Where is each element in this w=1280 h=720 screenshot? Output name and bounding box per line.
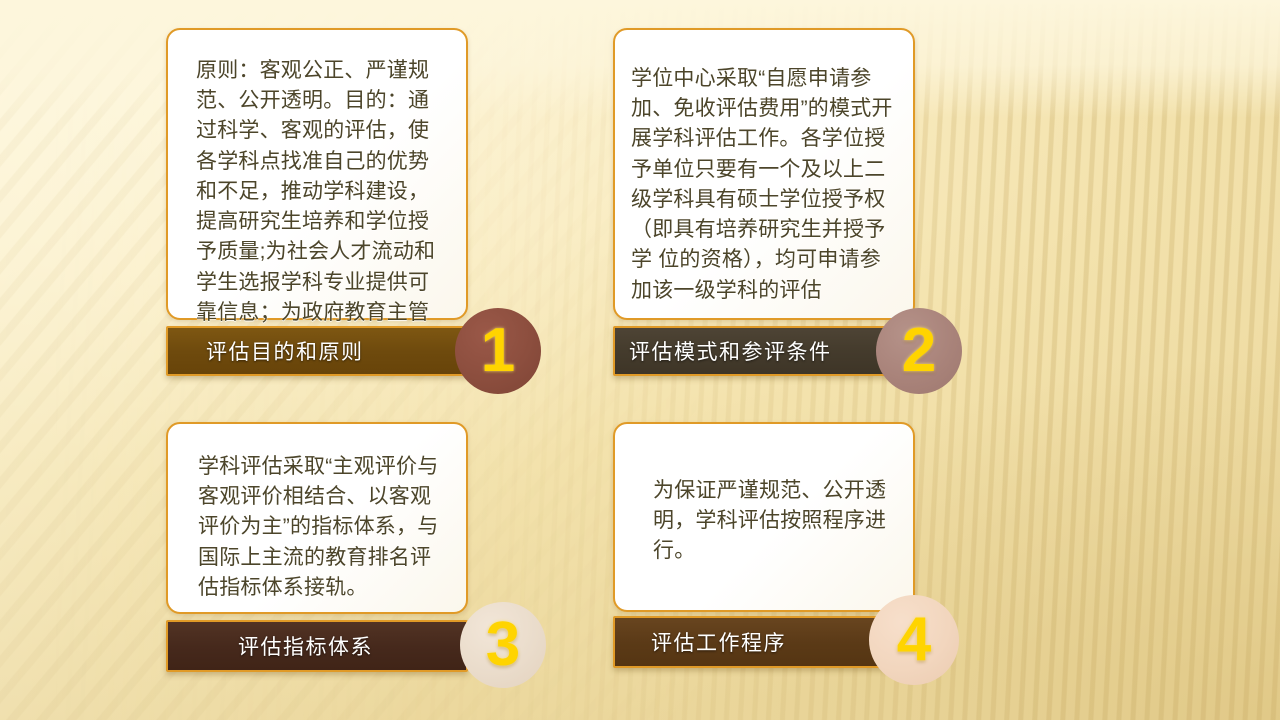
card-2-title-label: 评估模式和参评条件 [629,336,832,366]
step-badge-4[interactable]: 4 [869,595,959,685]
card-1-body-panel: 原则：客观公正、严谨规范、公开透明。目的：通过科学、客观的评估，使各学科点找准自… [166,28,468,320]
content-card-2[interactable]: 学位中心采取“自愿申请参加、免收评估费用”的模式开展学科评估工作。各学位授予单位… [613,28,915,376]
step-badge-1-number: 1 [481,320,515,382]
card-2-body-panel: 学位中心采取“自愿申请参加、免收评估费用”的模式开展学科评估工作。各学位授予单位… [613,28,915,320]
step-badge-2[interactable]: 2 [876,308,962,394]
step-badge-3[interactable]: 3 [460,602,546,688]
card-4-title-label: 评估工作程序 [651,627,786,657]
card-4-body-text: 为保证严谨规范、公开透明，学科评估按照程序进行。 [653,476,897,567]
card-4-body-panel: 为保证严谨规范、公开透明，学科评估按照程序进行。 [613,422,915,612]
step-badge-2-number: 2 [902,320,936,382]
step-badge-3-number: 3 [486,614,520,676]
card-2-body-text: 学位中心采取“自愿申请参加、免收评估费用”的模式开展学科评估工作。各学位授予单位… [631,64,897,306]
content-card-1[interactable]: 原则：客观公正、严谨规范、公开透明。目的：通过科学、客观的评估，使各学科点找准自… [166,28,468,376]
card-3-title-label: 评估指标体系 [238,631,373,661]
card-3-body-text: 学科评估采取“主观评价与客观评价相结合、以客观评价为主”的指标体系，与国际上主流… [198,452,450,603]
card-1-title-label: 评估目的和原则 [206,336,364,366]
card-2-title-bar[interactable]: 评估模式和参评条件 [613,326,915,376]
card-3-body-panel: 学科评估采取“主观评价与客观评价相结合、以客观评价为主”的指标体系，与国际上主流… [166,422,468,614]
step-badge-4-number: 4 [897,609,931,671]
step-badge-1[interactable]: 1 [455,308,541,394]
content-card-3[interactable]: 学科评估采取“主观评价与客观评价相结合、以客观评价为主”的指标体系，与国际上主流… [166,422,468,672]
card-1-title-bar[interactable]: 评估目的和原则 [166,326,468,376]
slide-canvas: 原则：客观公正、严谨规范、公开透明。目的：通过科学、客观的评估，使各学科点找准自… [0,0,1280,720]
card-3-title-bar[interactable]: 评估指标体系 [166,620,468,672]
card-1-body-text: 原则：客观公正、严谨规范、公开透明。目的：通过科学、客观的评估，使各学科点找准自… [196,56,448,358]
